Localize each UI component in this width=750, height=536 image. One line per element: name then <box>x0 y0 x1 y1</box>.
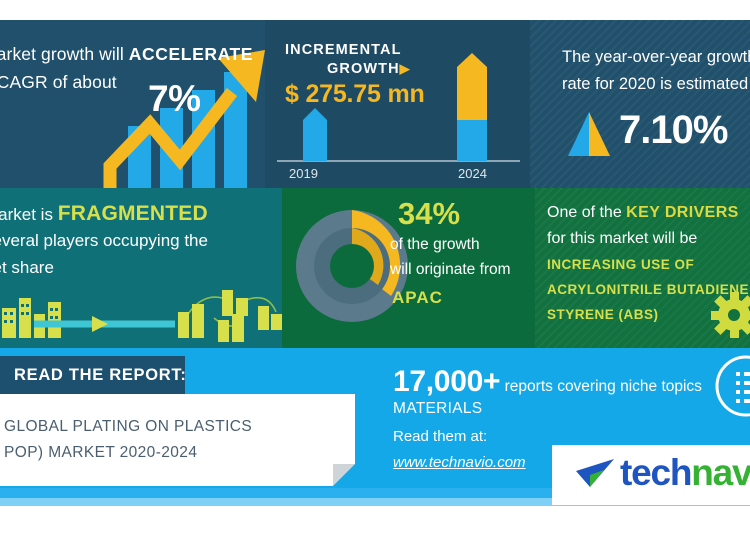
incremental-growth-word: GROWTH <box>327 61 400 77</box>
incremental-label-line2: GROWTH▶ <box>327 61 411 77</box>
driver-text-line-3: STYRENE (ABS) <box>547 307 659 322</box>
report-title-line-2: POP) MARKET 2020-2024 <box>4 444 197 462</box>
fragmented-line-3: ket share <box>0 258 54 278</box>
logo-text-navi: navi <box>691 452 750 493</box>
cagr-accelerate-word: ACCELERATE <box>129 44 253 64</box>
apac-region-label: APAC <box>392 288 443 308</box>
top-white-margin <box>0 0 750 20</box>
triangle-up-icon <box>564 108 624 160</box>
yoy-line-2: rate for 2020 is estimated <box>562 75 748 94</box>
yoy-line-1: The year-over-year growth <box>562 48 750 67</box>
read-them-at-label: Read them at: <box>393 428 487 445</box>
reports-count: 17,000+ <box>393 365 500 398</box>
category-label: MATERIALS <box>393 400 482 418</box>
read-the-report-banner: READ THE REPORT: <box>0 356 185 394</box>
cagr-line-2: a CAGR of about <box>0 72 117 93</box>
incremental-value: $ 275.75 mn <box>285 80 425 109</box>
row-top: market growth will ACCELERATE a CAGR of … <box>0 20 750 188</box>
play-arrow-icon: ▶ <box>400 61 411 76</box>
apac-percent: 34% <box>398 196 460 232</box>
apac-line-2: will originate from <box>390 261 511 279</box>
fragmented-line-1: market is FRAGMENTED <box>0 202 208 226</box>
report-title-line-1: GLOBAL PLATING ON PLASTICS <box>4 418 252 436</box>
infographic-canvas: market growth will ACCELERATE a CAGR of … <box>0 0 750 536</box>
city-buildings-icon <box>0 284 282 344</box>
driver-text-line-1: INCREASING USE OF <box>547 257 694 272</box>
fragmented-line-1-text: market is <box>0 205 58 224</box>
logo-text-tech: tech <box>620 452 691 493</box>
apac-line-1: of the growth <box>390 236 480 254</box>
year-label-2024: 2024 <box>458 166 487 181</box>
technavio-logo-plate: technavi <box>552 445 750 505</box>
report-title-card[interactable]: GLOBAL PLATING ON PLASTICS POP) MARKET 2… <box>0 394 355 486</box>
yoy-value: 7.10% <box>619 108 727 153</box>
panel-yoy-texture <box>530 20 750 188</box>
cagr-line-1: market growth will ACCELERATE <box>0 44 253 65</box>
bottom-white-margin <box>0 506 750 536</box>
incremental-label-line1: INCREMENTAL <box>285 42 402 58</box>
year-label-2019: 2019 <box>289 166 318 181</box>
technavio-wordmark: technavi <box>620 452 750 494</box>
technavio-url-link[interactable]: www.technavio.com <box>393 454 526 471</box>
fragmented-line-2: several players occupying the <box>0 231 208 251</box>
drivers-line-1-text: One of the <box>547 204 626 221</box>
panel-key-drivers: One of the KEY DRIVERS for this market w… <box>535 188 750 348</box>
panel-incremental-growth: INCREMENTAL GROWTH▶ $ 275.75 mn 2019 202… <box>265 20 530 188</box>
panel-apac-share: 34% of the growth will originate from AP… <box>282 188 535 348</box>
panel-yoy-growth: The year-over-year growth rate for 2020 … <box>530 20 750 188</box>
reports-count-row: 17,000+ reports covering niche topics <box>393 365 702 399</box>
drivers-line-1: One of the KEY DRIVERS <box>547 204 739 222</box>
fragmented-word: FRAGMENTED <box>58 202 208 225</box>
row-middle: market is FRAGMENTED several players occ… <box>0 188 750 348</box>
gear-icon <box>711 292 750 338</box>
cagr-value: 7% <box>148 78 200 120</box>
document-list-circle-icon <box>712 354 750 418</box>
reports-count-suffix: reports covering niche topics <box>505 378 702 395</box>
cagr-line-1-text: market growth will <box>0 44 129 64</box>
panel-fragmented: market is FRAGMENTED several players occ… <box>0 188 282 348</box>
drivers-line-2: for this market will be <box>547 230 697 248</box>
page-fold-corner <box>333 464 355 486</box>
technavio-arrow-icon <box>574 457 618 497</box>
key-drivers-word: KEY DRIVERS <box>626 204 739 221</box>
panel-cagr: market growth will ACCELERATE a CAGR of … <box>0 20 265 188</box>
read-the-report-label: READ THE REPORT: <box>14 366 185 385</box>
